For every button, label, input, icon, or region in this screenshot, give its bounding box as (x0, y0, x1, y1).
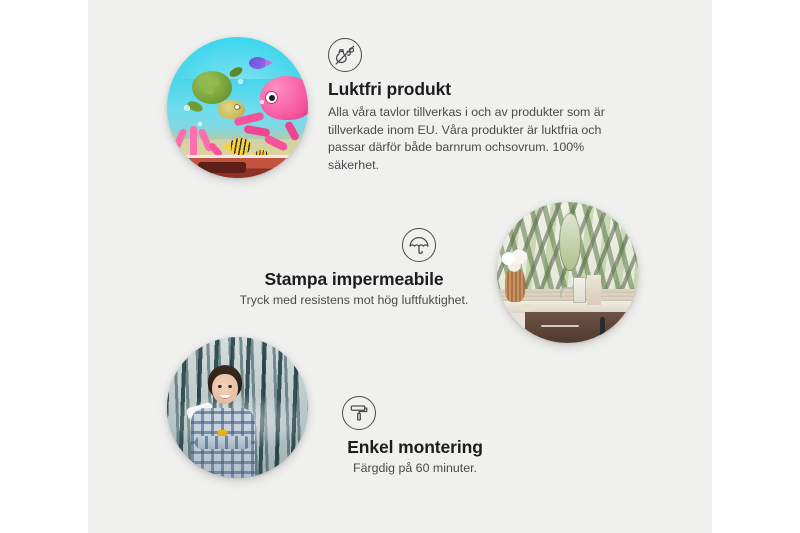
feature-title: Luktfri produkt (328, 79, 618, 100)
umbrella-icon (402, 228, 436, 262)
blue-fish (249, 57, 267, 69)
feature-title: Enkel montering (300, 437, 530, 458)
woman-face (212, 374, 238, 404)
room-foreground-band (167, 155, 308, 178)
feature-odorless: Luktfri produkt Alla våra tavlor tillver… (328, 38, 618, 174)
bubble (198, 122, 202, 126)
white-flowers (498, 249, 532, 273)
painter-forest-wallpaper-thumbnail[interactable] (167, 337, 308, 478)
feature-description: Tryck med resistens mot hög luftfuktighe… (220, 292, 488, 310)
octopus-eye (265, 91, 278, 104)
feature-description: Färgdig på 60 minuter. (300, 460, 530, 478)
bubble (184, 105, 190, 111)
crossed-arms (195, 436, 251, 449)
paint-roller-icon (342, 396, 376, 430)
aquatic-kids-mural-thumbnail[interactable] (167, 37, 308, 178)
wood-vanity-cabinet (525, 312, 638, 343)
bubble (238, 79, 243, 84)
leaf-motif (559, 213, 581, 271)
feature-icon-wrap (300, 396, 418, 430)
feature-easy-install: Enkel montering Färgdig på 60 minuter. (300, 396, 530, 478)
coral-plant (170, 118, 224, 160)
feature-waterproof: Stampa impermeabile Tryck med resistens … (220, 228, 488, 310)
product-feature-infographic: Luktfri produkt Alla våra tavlor tillver… (0, 0, 800, 533)
ribbed-vase (505, 268, 525, 302)
feature-title: Stampa impermeabile (220, 269, 488, 290)
folded-towel (587, 275, 601, 305)
turtle-shell (192, 71, 232, 104)
bathroom-tropical-wallpaper-thumbnail[interactable] (497, 202, 638, 343)
soap-bar (518, 304, 536, 311)
soap-dispenser (573, 277, 586, 303)
feature-icon-wrap (220, 228, 436, 262)
feature-description: Alla våra tavlor tillverkas i och av pro… (328, 104, 618, 174)
no-odor-icon (328, 38, 362, 72)
